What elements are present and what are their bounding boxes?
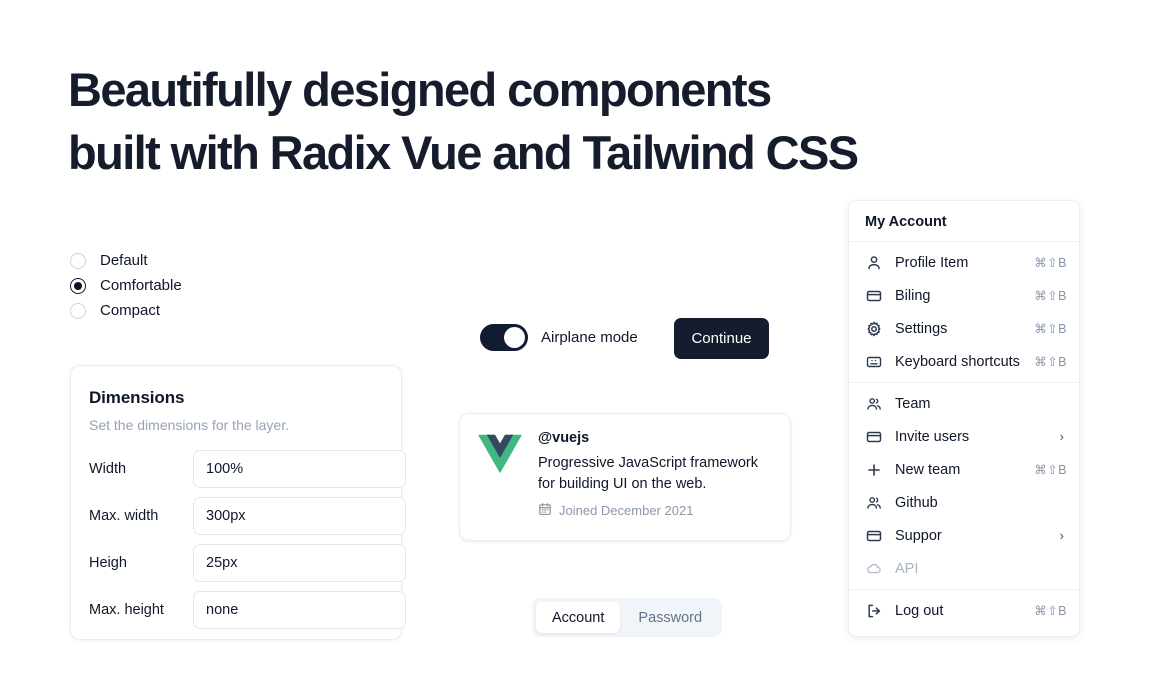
- menu-item-new-team-shortcut: ⌘⇧B: [1034, 462, 1067, 477]
- radio-label-default: Default: [100, 252, 148, 269]
- vuejs-handle: @vuejs: [538, 430, 772, 446]
- menu-item-profile[interactable]: Profile Item ⌘⇧B: [849, 246, 1079, 279]
- menu-item-invite-users-label: Invite users: [895, 429, 1060, 445]
- menu-item-billing-shortcut: ⌘⇧B: [1034, 288, 1067, 303]
- radio-icon-compact[interactable]: [70, 303, 86, 319]
- menu-item-new-team[interactable]: New team ⌘⇧B: [849, 453, 1079, 486]
- radio-option-default[interactable]: Default: [70, 248, 182, 273]
- dimensions-row-width: Width: [89, 450, 383, 488]
- menu-item-keyboard-shortcuts-shortcut: ⌘⇧B: [1034, 354, 1067, 369]
- user-icon: [865, 254, 882, 271]
- menu-item-new-team-label: New team: [895, 462, 1034, 478]
- credit-card-icon: [865, 527, 882, 544]
- chevron-right-icon: ›: [1060, 429, 1067, 444]
- menu-item-api-label: API: [895, 561, 1067, 577]
- page-title-line-2: built with Radix Vue and Tailwind CSS: [68, 121, 1028, 184]
- menu-item-invite-users[interactable]: Invite users ›: [849, 420, 1079, 453]
- credit-card-icon: [865, 287, 882, 304]
- vuejs-description: Progressive JavaScript framework for bui…: [538, 453, 772, 495]
- menu-item-github[interactable]: Github: [849, 486, 1079, 519]
- menu-item-api: API: [849, 552, 1079, 585]
- input-max-width[interactable]: [193, 497, 406, 535]
- account-dropdown-menu: My Account Profile Item ⌘⇧B Biling: [848, 200, 1080, 637]
- plus-icon: [865, 461, 882, 478]
- dimensions-row-height: Heigh: [89, 544, 383, 582]
- radio-option-comfortable[interactable]: Comfortable: [70, 273, 182, 298]
- page-title-line-1: Beautifully designed components: [68, 58, 1028, 121]
- menu-group-session: Log out ⌘⇧B: [849, 590, 1079, 631]
- label-height: Heigh: [89, 555, 193, 571]
- settings-tabs: Account Password: [532, 598, 722, 637]
- calendar-icon: [538, 502, 552, 519]
- input-max-height[interactable]: [193, 591, 406, 629]
- gear-icon: [865, 320, 882, 337]
- page-title: Beautifully designed components built wi…: [68, 58, 1028, 184]
- menu-item-github-label: Github: [895, 495, 1067, 511]
- radio-label-compact: Compact: [100, 302, 160, 319]
- airplane-mode-switch[interactable]: [480, 324, 528, 351]
- menu-item-billing-label: Biling: [895, 288, 1034, 304]
- airplane-mode-label: Airplane mode: [541, 329, 638, 346]
- users-icon: [865, 395, 882, 412]
- menu-item-keyboard-shortcuts[interactable]: Keyboard shortcuts ⌘⇧B: [849, 345, 1079, 378]
- radio-label-comfortable: Comfortable: [100, 277, 182, 294]
- page-root: Beautifully designed components built wi…: [0, 0, 1152, 700]
- chevron-right-icon: ›: [1060, 528, 1067, 543]
- tab-password[interactable]: Password: [622, 602, 718, 633]
- users-icon: [865, 494, 882, 511]
- radio-option-compact[interactable]: Compact: [70, 298, 182, 323]
- label-width: Width: [89, 461, 193, 477]
- menu-header: My Account: [849, 206, 1079, 241]
- radio-icon-default[interactable]: [70, 253, 86, 269]
- menu-group-account: Profile Item ⌘⇧B Biling ⌘⇧B: [849, 242, 1079, 382]
- logout-icon: [865, 602, 882, 619]
- airplane-mode-switch-group: Airplane mode: [480, 324, 638, 351]
- menu-item-team-label: Team: [895, 396, 1067, 412]
- menu-item-team[interactable]: Team: [849, 387, 1079, 420]
- continue-button[interactable]: Continue: [674, 318, 769, 359]
- menu-item-support-label: Suppor: [895, 528, 1060, 544]
- dimensions-title: Dimensions: [89, 388, 383, 408]
- dimensions-subtitle: Set the dimensions for the layer.: [89, 417, 383, 433]
- dimensions-row-max-height: Max. height: [89, 591, 383, 629]
- menu-item-profile-label: Profile Item: [895, 255, 1034, 271]
- vuejs-hover-card-body: @vuejs Progressive JavaScript framework …: [538, 430, 772, 524]
- tab-account[interactable]: Account: [536, 602, 620, 633]
- radio-icon-comfortable[interactable]: [70, 278, 86, 294]
- menu-item-log-out-shortcut: ⌘⇧B: [1034, 603, 1067, 618]
- input-height[interactable]: [193, 544, 406, 582]
- menu-item-support[interactable]: Suppor ›: [849, 519, 1079, 552]
- label-max-height: Max. height: [89, 602, 193, 618]
- label-max-width: Max. width: [89, 508, 193, 524]
- keyboard-icon: [865, 353, 882, 370]
- cloud-icon: [865, 560, 882, 577]
- menu-item-keyboard-shortcuts-label: Keyboard shortcuts: [895, 354, 1034, 370]
- vue-logo-icon: [478, 434, 522, 474]
- menu-item-settings-label: Settings: [895, 321, 1034, 337]
- input-width[interactable]: [193, 450, 406, 488]
- vuejs-joined-row: Joined December 2021: [538, 502, 772, 519]
- menu-item-settings[interactable]: Settings ⌘⇧B: [849, 312, 1079, 345]
- menu-group-team: Team Invite users › New team: [849, 383, 1079, 589]
- credit-card-icon: [865, 428, 882, 445]
- menu-item-log-out-label: Log out: [895, 603, 1034, 619]
- dimensions-fields: Width Max. width Heigh Max. height: [89, 450, 383, 629]
- menu-item-settings-shortcut: ⌘⇧B: [1034, 321, 1067, 336]
- menu-item-log-out[interactable]: Log out ⌘⇧B: [849, 594, 1079, 627]
- menu-item-profile-shortcut: ⌘⇧B: [1034, 255, 1067, 270]
- dimensions-card: Dimensions Set the dimensions for the la…: [70, 365, 402, 640]
- vuejs-joined-text: Joined December 2021: [559, 503, 693, 518]
- radio-group: Default Comfortable Compact: [70, 248, 182, 323]
- dimensions-row-max-width: Max. width: [89, 497, 383, 535]
- menu-item-billing[interactable]: Biling ⌘⇧B: [849, 279, 1079, 312]
- vuejs-hover-card: @vuejs Progressive JavaScript framework …: [459, 413, 791, 541]
